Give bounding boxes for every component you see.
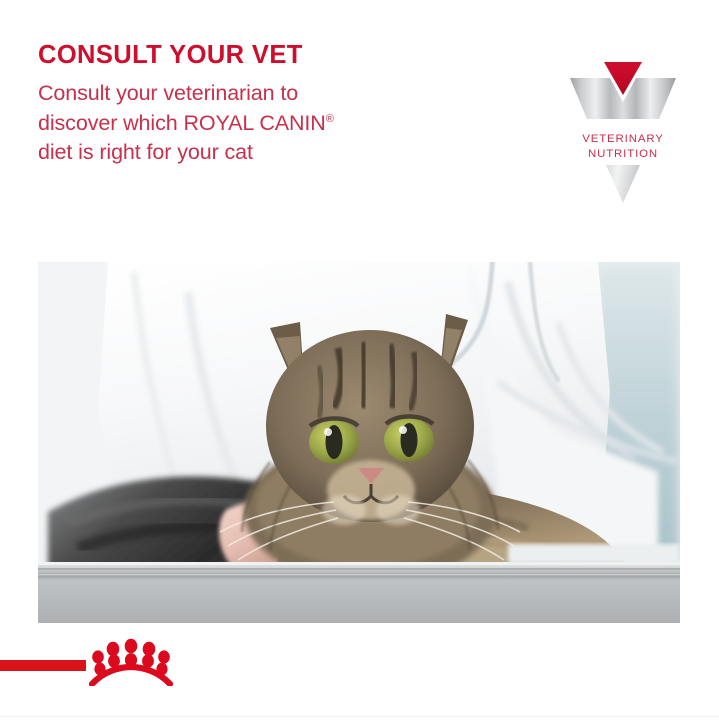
hero-photo — [38, 262, 680, 623]
body-line-1: Consult your veterinarian to — [38, 81, 298, 105]
silver-triangle-icon — [606, 165, 640, 203]
red-rule-right — [176, 660, 719, 671]
vn-wordmark: VETERINARY NUTRITION — [562, 132, 684, 162]
veterinary-nutrition-logo: VETERINARY NUTRITION — [562, 58, 684, 208]
royal-canin-crown-icon — [84, 638, 178, 686]
red-rule-left — [0, 660, 86, 671]
page-title: CONSULT YOUR VET — [38, 40, 508, 70]
hero-photo-graphic — [38, 262, 680, 623]
footer-brand-bar — [0, 648, 719, 682]
body-line-2: discover which ROYAL CANIN — [38, 111, 326, 135]
crown-graphic — [84, 638, 178, 686]
bottom-divider — [0, 716, 719, 717]
registered-trademark-icon: ® — [326, 112, 334, 124]
vn-line-2: NUTRITION — [562, 147, 684, 162]
vet-consult-poster: CONSULT YOUR VET Consult your veterinari… — [0, 0, 719, 720]
header-text-block: CONSULT YOUR VET Consult your veterinari… — [38, 40, 508, 168]
body-line-3: diet is right for your cat — [38, 140, 253, 164]
vn-line-1: VETERINARY — [562, 132, 684, 147]
header-body-copy: Consult your veterinarian to discover wh… — [38, 79, 508, 168]
